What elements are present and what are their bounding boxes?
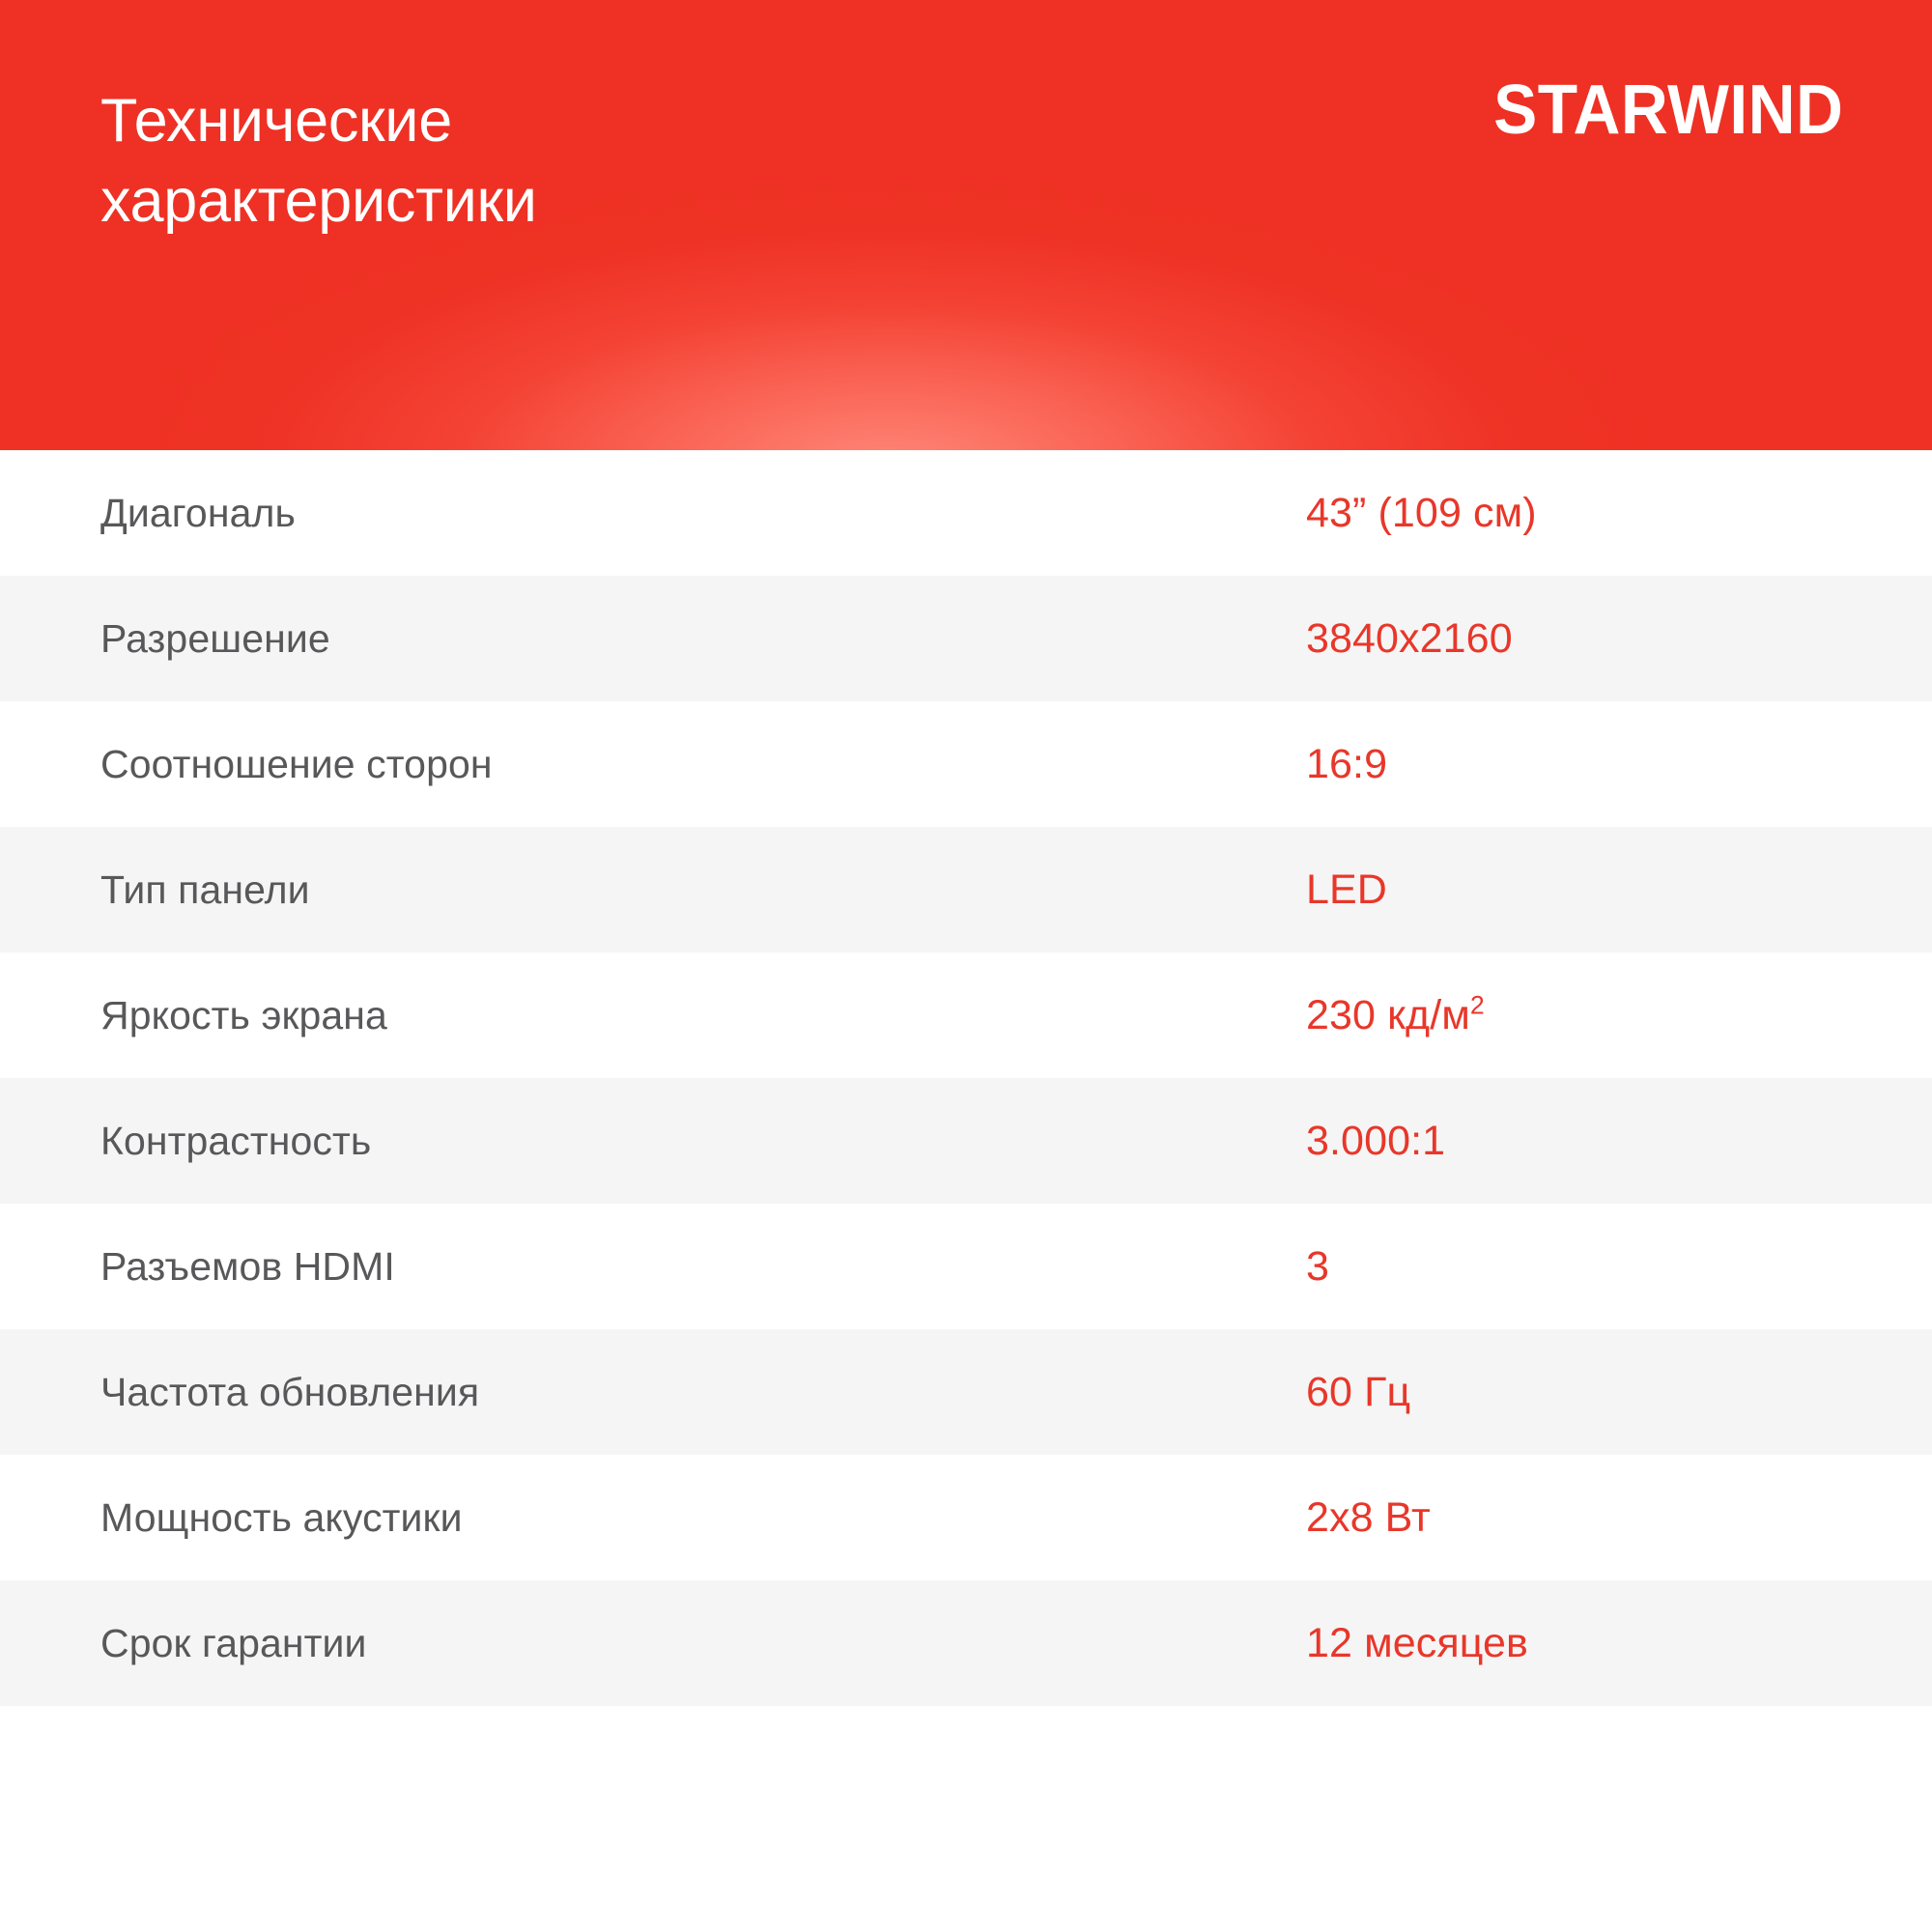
spec-label: Яркость экрана (100, 993, 387, 1038)
spec-value: 2x8 Вт (1306, 1494, 1431, 1542)
spec-label: Мощность акустики (100, 1495, 463, 1541)
spec-label: Срок гарантии (100, 1621, 367, 1666)
table-row: Мощность акустики2x8 Вт (0, 1455, 1932, 1580)
spec-label: Соотношение сторон (100, 742, 493, 787)
table-row: Диагональ43” (109 см) (0, 450, 1932, 576)
table-row: Контрастность3.000:1 (0, 1078, 1932, 1204)
table-row: Соотношение сторон16:9 (0, 701, 1932, 827)
header-banner: Технические характеристики STARWIND (0, 0, 1932, 450)
spec-value: 43” (109 см) (1306, 490, 1537, 537)
spec-label: Диагональ (100, 491, 296, 536)
table-row: Разъемов HDMI3 (0, 1204, 1932, 1329)
spec-value: 60 Гц (1306, 1369, 1410, 1416)
spec-value: 3840x2160 (1306, 615, 1513, 663)
spec-table: Диагональ43” (109 см)Разрешение3840x2160… (0, 450, 1932, 1706)
spec-value: 12 месяцев (1306, 1620, 1528, 1667)
table-row: Яркость экрана230 кд/м2 (0, 952, 1932, 1078)
spec-label: Частота обновления (100, 1370, 479, 1415)
spec-value: 16:9 (1306, 741, 1387, 788)
table-filler (0, 1706, 1932, 1932)
spec-value: LED (1306, 867, 1387, 914)
spec-label: Контрастность (100, 1119, 371, 1164)
table-row: Тип панелиLED (0, 827, 1932, 952)
spec-value: 3 (1306, 1243, 1329, 1291)
table-row: Срок гарантии12 месяцев (0, 1580, 1932, 1706)
starwind-logo: STARWIND (1493, 75, 1843, 145)
spec-label: Тип панели (100, 867, 310, 913)
spec-value: 230 кд/м2 (1306, 992, 1485, 1039)
spec-label: Разрешение (100, 616, 330, 662)
table-row: Разрешение3840x2160 (0, 576, 1932, 701)
spec-label: Разъемов HDMI (100, 1244, 395, 1290)
table-row: Частота обновления60 Гц (0, 1329, 1932, 1455)
page-title: Технические характеристики (100, 81, 537, 241)
spec-value: 3.000:1 (1306, 1118, 1445, 1165)
header-content: Технические характеристики STARWIND (0, 0, 1932, 450)
